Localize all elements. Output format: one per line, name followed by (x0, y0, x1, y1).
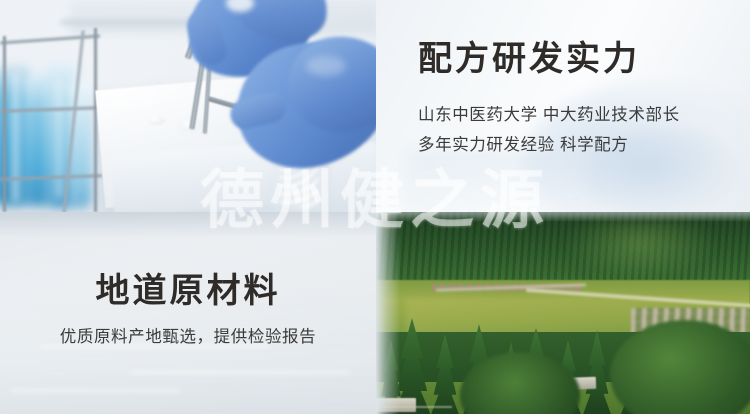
formula-text-panel: 配方研发实力 山东中医药大学 中大药业技术部长 多年实力研发经验 科学配方 (376, 0, 750, 212)
product-feature-banner: 配方研发实力 山东中医药大学 中大药业技术部长 多年实力研发经验 科学配方 地道… (0, 0, 750, 414)
nature-photo-panel (376, 212, 750, 414)
panel-top-shadow (0, 212, 376, 238)
lab-photo-vignette (0, 0, 376, 212)
formula-subtitle-group: 山东中医药大学 中大药业技术部长 多年实力研发经验 科学配方 (418, 100, 680, 160)
formula-text-block: 配方研发实力 山东中医药大学 中大药业技术部长 多年实力研发经验 科学配方 (418, 40, 680, 160)
material-text-block: 地道原材料 优质原料产地甄选，提供检验报告 (0, 272, 376, 352)
lab-photo-panel (0, 0, 376, 212)
lab-scene-illustration (0, 0, 376, 212)
formula-title: 配方研发实力 (418, 40, 680, 78)
photo-top-fade (376, 212, 750, 222)
background-streak (10, 389, 180, 392)
background-streak (130, 371, 350, 374)
material-subtitle-line-1: 优质原料产地甄选，提供检验报告 (0, 322, 376, 352)
material-title: 地道原材料 (0, 272, 376, 310)
material-text-panel: 地道原材料 优质原料产地甄选，提供检验报告 (0, 212, 376, 414)
formula-subtitle-line-1: 山东中医药大学 中大药业技术部长 (418, 100, 680, 130)
photo-left-fade (376, 212, 400, 414)
ridge-sunlight (566, 220, 716, 280)
formula-subtitle-line-2: 多年实力研发经验 科学配方 (418, 130, 680, 160)
